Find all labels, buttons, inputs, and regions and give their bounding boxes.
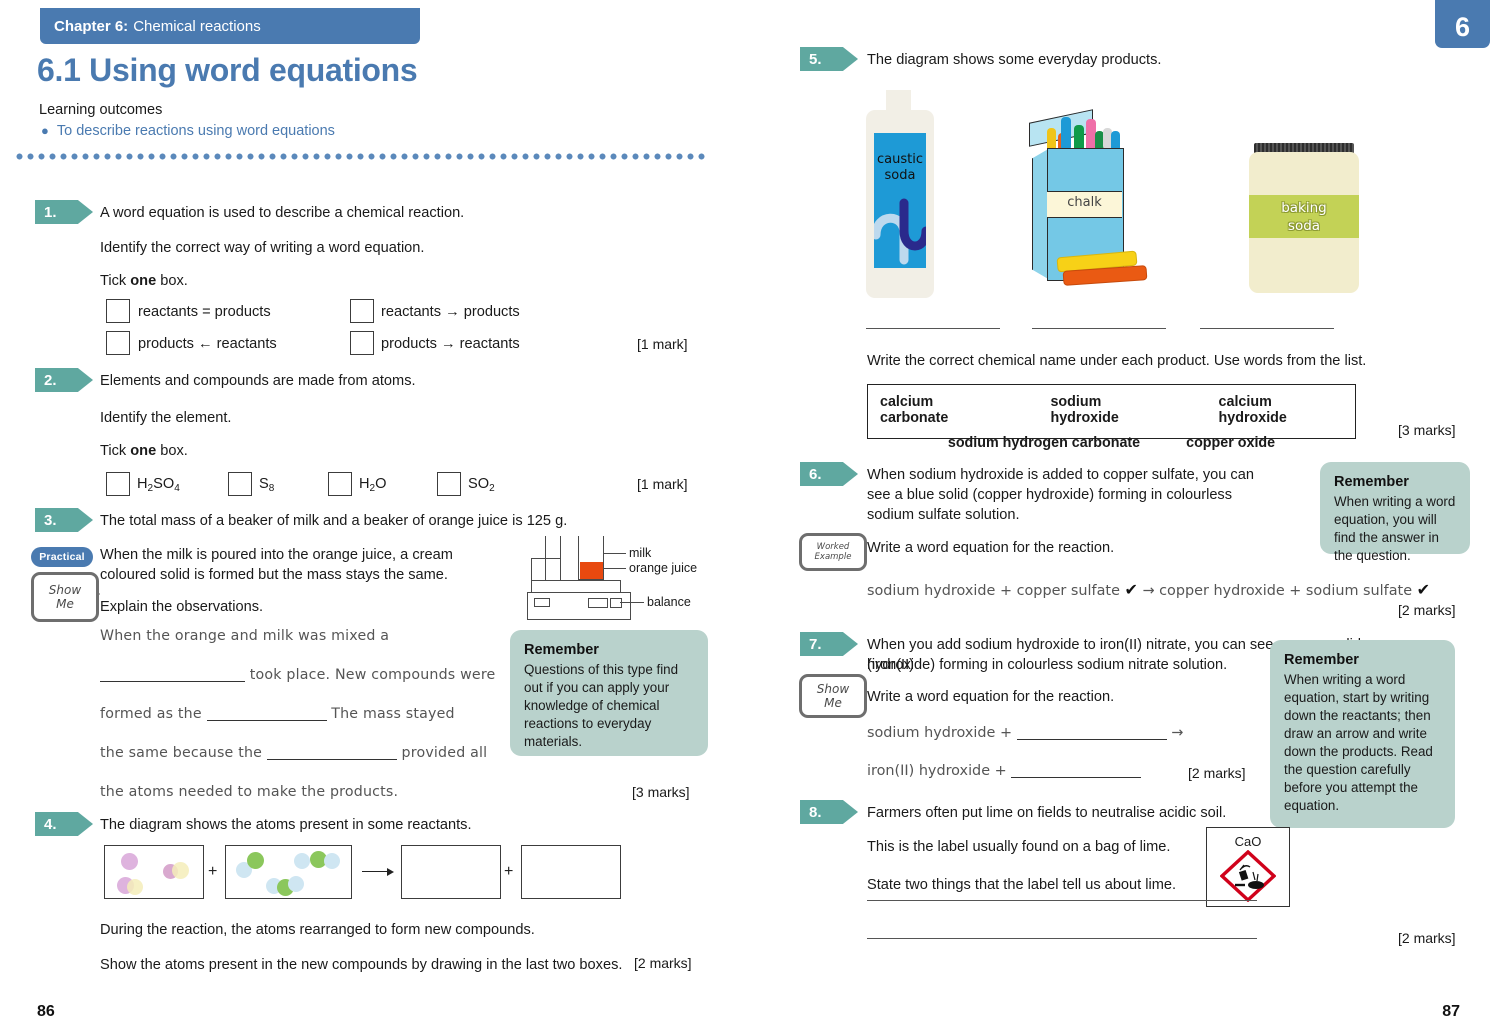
q3-answer-line3-post: The mass stayed — [331, 706, 454, 722]
remember-q6-text: When writing a word equation, you will f… — [1334, 493, 1456, 565]
q7-answer-line2-text: iron(II) hydroxide + — [867, 763, 1007, 779]
q3-answer-line3: formed as the The mass stayed — [100, 706, 455, 722]
q5-marks: [3 marks] — [1398, 422, 1456, 438]
atom-box-reactant-2 — [225, 845, 352, 899]
bottle-swirl-icon — [874, 175, 926, 270]
label-milk: milk — [629, 546, 651, 560]
q2-option-4-label: SO2 — [468, 476, 495, 494]
showme-badge-q7: Show Me — [799, 674, 867, 718]
question-4-instruction: Show the atoms present in the new compou… — [100, 955, 622, 975]
question-3-body-line1: When the milk is poured into the orange … — [100, 545, 520, 565]
chapter-header-bar: Chapter 6: Chemical reactions — [40, 8, 420, 44]
answer-blank-3[interactable] — [267, 759, 397, 760]
label-orange-juice: orange juice — [629, 561, 697, 575]
question-number-3: 3. — [35, 508, 93, 532]
word-list-row-1: calcium carbonate sodium hydroxide calci… — [868, 394, 1355, 426]
q2-checkbox-3[interactable] — [328, 472, 352, 496]
question-6-stem-line1: When sodium hydroxide is added to copper… — [867, 465, 1307, 485]
question-number-7: 7. — [800, 632, 858, 656]
q1-checkbox-1[interactable] — [106, 299, 130, 323]
q2-checkbox-1[interactable] — [106, 472, 130, 496]
question-number-4: 4. — [35, 812, 93, 836]
remember-q7-title: Remember — [1284, 652, 1441, 668]
q3-marks: [3 marks] — [632, 784, 690, 800]
q3-answer-line4: the same because the provided all — [100, 745, 487, 761]
q4-plus-1: + — [208, 863, 217, 881]
remember-box-q7: Remember When writing a word equation, s… — [1270, 640, 1455, 828]
question-2-tick-instruction: Tick one box. — [100, 441, 188, 461]
q4-reaction-arrow — [362, 871, 388, 872]
atom-box-product-2[interactable] — [521, 845, 621, 899]
question-6-stem-line2: see a blue solid (copper hydroxide) form… — [867, 485, 1307, 505]
showme-line2: Me — [56, 597, 74, 611]
q1-option-1-label: reactants = products — [138, 304, 271, 320]
q4-marks: [2 marks] — [634, 955, 692, 971]
q2-option-3-label: H2O — [359, 476, 386, 494]
question-6-stem-line3: sodium sulfate solution. — [867, 505, 1307, 525]
remember-box-q6: Remember When writing a word equation, y… — [1320, 462, 1470, 554]
label-balance: balance — [647, 595, 691, 609]
question-5-stem: The diagram shows some everyday products… — [867, 50, 1427, 70]
q6-tick-2: ✔ — [1417, 580, 1430, 599]
remember-q7-text: When writing a word equation, start by w… — [1284, 671, 1441, 815]
baking-soda-label-line1: baking — [1249, 199, 1359, 217]
practical-badge: Practical — [31, 547, 93, 567]
word-option-2: sodium hydroxide — [1050, 394, 1172, 426]
tick-pre: Tick — [100, 273, 130, 289]
showme-badge: Show Me — [31, 572, 99, 622]
q2-checkbox-2[interactable] — [228, 472, 252, 496]
q1-checkbox-3[interactable] — [106, 331, 130, 355]
question-number-6: 6. — [800, 462, 858, 486]
corrosive-hazard-icon — [1220, 850, 1276, 902]
q7-answer-line1-text: sodium hydroxide + — [867, 725, 1012, 741]
q1-option-3-label: products ← reactants — [138, 336, 277, 352]
remember-q6-title: Remember — [1334, 474, 1456, 490]
q8-answer-line-1[interactable] — [867, 900, 1257, 901]
q6-answer-right: copper hydroxide + sodium sulfate — [1159, 583, 1412, 599]
page-title: 6.1 Using word equations — [37, 52, 417, 89]
question-1-stem: A word equation is used to describe a ch… — [100, 203, 700, 223]
question-2-instruction: Identify the element. — [100, 408, 231, 428]
word-list-row-2: sodium hydrogen carbonate copper oxide — [868, 435, 1355, 451]
page-number-left: 86 — [37, 1003, 55, 1021]
q7-marks: [2 marks] — [1188, 765, 1246, 781]
question-1-instruction: Identify the correct way of writing a wo… — [100, 238, 700, 258]
question-4-stem: The diagram shows the atoms present in s… — [100, 815, 700, 835]
right-page: 6 5. The diagram shows some everyday pro… — [750, 0, 1500, 1035]
question-7-instruction: Write a word equation for the reaction. — [867, 687, 1114, 707]
question-3-body-line2: coloured solid is formed but the mass st… — [100, 565, 520, 585]
baking-soda-label-line2: soda — [1249, 217, 1359, 235]
remember-text: Questions of this type find out if you c… — [524, 661, 694, 751]
chapter-title: Chemical reactions — [133, 18, 261, 35]
bullet-icon: ● — [41, 123, 49, 139]
tick2-pre: Tick — [100, 443, 130, 459]
caustic-soda-label-line2: soda — [874, 168, 926, 184]
atom-box-reactant-1 — [104, 845, 204, 899]
word-option-5: copper oxide — [1186, 435, 1275, 451]
question-5-instruction: Write the correct chemical name under ea… — [867, 351, 1467, 371]
showme-line1: Show — [49, 583, 81, 597]
q1-checkbox-2[interactable] — [350, 299, 374, 323]
tick2-bold: one — [130, 443, 156, 459]
q2-marks: [1 mark] — [637, 476, 688, 492]
q3-answer-line4-pre: the same because the — [100, 745, 262, 761]
q2-checkbox-4[interactable] — [437, 472, 461, 496]
q7-blank-1[interactable] — [1017, 739, 1167, 740]
q2-option-1-label: H2SO4 — [137, 476, 180, 494]
q6-marks: [2 marks] — [1398, 602, 1456, 618]
q1-marks: [1 mark] — [637, 336, 688, 352]
learning-outcome-text: To describe reactions using word equatio… — [57, 123, 335, 139]
question-number-1: 1. — [35, 200, 93, 224]
worked-line1: Worked — [817, 542, 850, 553]
q3-answer-line5: the atoms needed to make the products. — [100, 784, 398, 800]
worked-line2: Example — [815, 552, 852, 563]
chalk-label: chalk — [1047, 195, 1122, 210]
chapter-tab-marker: 6 — [1435, 0, 1490, 48]
q1-checkbox-4[interactable] — [350, 331, 374, 355]
question-4-line-after: During the reaction, the atoms rearrange… — [100, 920, 535, 940]
question-2-stem: Elements and compounds are made from ato… — [100, 371, 700, 391]
q2-option-2-label: S8 — [259, 476, 274, 494]
q6-arrow: → — [1142, 583, 1154, 599]
q8-answer-line-2[interactable] — [867, 938, 1257, 939]
question-number-8: 8. — [800, 800, 858, 824]
q6-tick-1: ✔ — [1125, 580, 1138, 599]
q4-plus-2: + — [504, 863, 513, 881]
q3-answer-line4-post: provided all — [402, 745, 488, 761]
q7-answer-line2: iron(II) hydroxide + — [867, 763, 1141, 779]
showme-q7-line1: Show — [817, 682, 849, 696]
q1-option-2-label: reactants → products — [381, 304, 520, 320]
dotted-divider — [14, 153, 708, 160]
question-8-stem: Farmers often put lime on fields to neut… — [867, 803, 1287, 823]
page-number-right: 87 — [1442, 1003, 1460, 1021]
learning-outcome-item: ● To describe reactions using word equat… — [41, 123, 335, 139]
question-3-stem: The total mass of a beaker of milk and a… — [100, 511, 700, 531]
learning-outcomes-heading: Learning outcomes — [39, 102, 162, 118]
question-number-5: 5. — [800, 47, 858, 71]
word-option-1: calcium carbonate — [880, 394, 1004, 426]
tick2-post: box. — [156, 443, 188, 459]
q7-answer-line1: sodium hydroxide + → — [867, 725, 1183, 741]
showme-q7-line2: Me — [824, 696, 842, 710]
answer-blank-1[interactable] — [100, 681, 245, 682]
question-1-tick-instruction: Tick one box. — [100, 271, 188, 291]
atom-box-product-1[interactable] — [401, 845, 501, 899]
product-answer-line-2[interactable] — [1032, 328, 1166, 329]
tick-bold: one — [130, 273, 156, 289]
question-3-instruction: Explain the observations. — [100, 597, 263, 617]
product-answer-line-1[interactable] — [866, 328, 1000, 329]
hazard-formula-text: CaO — [1207, 834, 1289, 849]
tick-post: box. — [156, 273, 188, 289]
q6-answer-left: sodium hydroxide + copper sulfate — [867, 583, 1120, 599]
question-number-2: 2. — [35, 368, 93, 392]
word-option-4: sodium hydrogen carbonate — [948, 435, 1140, 451]
question-6-instruction: Write a word equation for the reaction. — [867, 538, 1114, 558]
q3-answer-line1: When the orange and milk was mixed a — [100, 628, 389, 644]
q7-arrow: → — [1171, 725, 1183, 741]
word-list-box: calcium carbonate sodium hydroxide calci… — [867, 384, 1356, 439]
hazard-label-card: CaO — [1206, 827, 1290, 907]
left-page: Chapter 6: Chemical reactions 6.1 Using … — [0, 0, 750, 1035]
word-option-3: calcium hydroxide — [1219, 394, 1343, 426]
caustic-soda-label-line1: caustic — [874, 152, 926, 168]
answer-blank-2[interactable] — [207, 720, 327, 721]
q4-reaction-arrowhead — [387, 868, 394, 876]
remember-title: Remember — [524, 642, 694, 658]
q3-answer-line3-pre: formed as the — [100, 706, 202, 722]
q7-blank-2[interactable] — [1011, 777, 1141, 778]
product-answer-line-3[interactable] — [1200, 328, 1334, 329]
q1-option-4-label: products → reactants — [381, 336, 520, 352]
remember-box-q3: Remember Questions of this type find out… — [510, 630, 708, 756]
worked-example-badge: Worked Example — [799, 533, 867, 571]
q3-answer-line2-text: took place. New compounds were — [250, 667, 496, 683]
q3-answer-line2: took place. New compounds were — [100, 667, 495, 683]
chapter-label: Chapter 6: — [54, 18, 128, 35]
q8-marks: [2 marks] — [1398, 930, 1456, 946]
q6-worked-answer: sodium hydroxide + copper sulfate ✔ → co… — [867, 580, 1430, 599]
